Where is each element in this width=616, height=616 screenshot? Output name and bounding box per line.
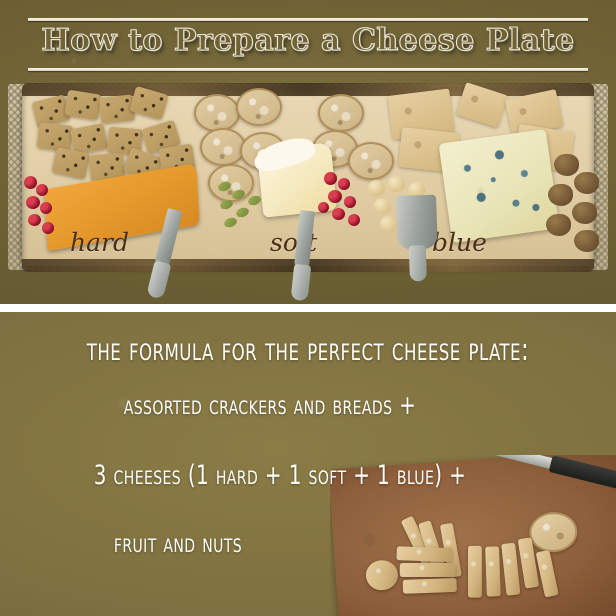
knife-handle bbox=[291, 264, 312, 302]
dried-fig bbox=[548, 184, 573, 206]
pomegranate-seed bbox=[40, 202, 52, 214]
seeded-cracker bbox=[37, 122, 74, 152]
formula-heading: The Formula for the Perfect Cheese Plate… bbox=[49, 332, 566, 368]
baguette-slice bbox=[236, 88, 282, 126]
formula-line-2: 3 cheeses (1 hard + 1 soft + 1 blue) + bbox=[50, 460, 509, 491]
knife-handle bbox=[549, 455, 616, 490]
pomegranate-seed bbox=[42, 222, 54, 234]
dried-fig bbox=[554, 154, 579, 176]
pomegranate-seed bbox=[324, 172, 337, 185]
bread-slice bbox=[396, 546, 452, 562]
board-bark-edge-top bbox=[22, 83, 594, 96]
macadamia-nut bbox=[368, 180, 385, 196]
baguette-slice bbox=[208, 164, 254, 202]
cheese-plate-infographic: hard soft blue How to Prepare a Cheese P… bbox=[0, 0, 616, 616]
formula-line-3: Fruit and Nuts bbox=[32, 528, 324, 559]
seeded-cracker bbox=[64, 90, 102, 121]
bread-slice bbox=[400, 563, 456, 577]
bread-slice bbox=[485, 546, 501, 596]
macadamia-nut bbox=[374, 198, 391, 214]
board-label-hard: hard bbox=[70, 228, 129, 257]
pomegranate-seed bbox=[318, 202, 329, 213]
pomegranate-seed bbox=[338, 178, 350, 190]
pomegranate-seed bbox=[328, 190, 342, 203]
formula-panel: The Formula for the Perfect Cheese Plate… bbox=[0, 312, 616, 616]
pomegranate-seed bbox=[332, 208, 345, 220]
baguette-slice bbox=[194, 94, 240, 132]
title-rule-bottom bbox=[28, 68, 588, 71]
board-label-blue: blue bbox=[432, 228, 487, 257]
baguette-slice bbox=[200, 128, 246, 166]
knife-handle bbox=[409, 245, 427, 282]
pomegranate-seed bbox=[36, 184, 48, 196]
bread-slice bbox=[536, 550, 559, 598]
knife-blade bbox=[396, 195, 438, 250]
macadamia-nut bbox=[380, 216, 397, 232]
dried-fig bbox=[572, 202, 597, 224]
pomegranate-seed bbox=[24, 176, 37, 189]
baguette-slice bbox=[318, 94, 364, 132]
pomegranate-seed bbox=[348, 214, 360, 226]
pomegranate-seed bbox=[28, 214, 41, 226]
pomegranate-seed bbox=[344, 196, 356, 208]
pomegranate-seed bbox=[26, 196, 40, 209]
blue-cheese-wedge bbox=[439, 129, 560, 243]
top-photo-panel: hard soft blue How to Prepare a Cheese P… bbox=[0, 0, 616, 304]
macadamia-nut bbox=[388, 176, 405, 192]
bread-slice-round bbox=[365, 559, 399, 591]
bread-slice bbox=[468, 546, 482, 598]
baguette-slice bbox=[348, 142, 394, 180]
bread-slice bbox=[501, 543, 520, 596]
formula-line-1: Assorted crackers and breads + bbox=[49, 390, 492, 421]
dried-fig bbox=[546, 214, 571, 236]
bread-slice bbox=[403, 578, 457, 594]
page-title: How to Prepare a Cheese Plate bbox=[28, 21, 588, 61]
panel-divider bbox=[0, 304, 616, 312]
dried-fig bbox=[574, 230, 599, 252]
bread-slice-round bbox=[528, 511, 579, 554]
title-block: How to Prepare a Cheese Plate bbox=[28, 14, 588, 76]
dried-fig bbox=[574, 172, 599, 194]
